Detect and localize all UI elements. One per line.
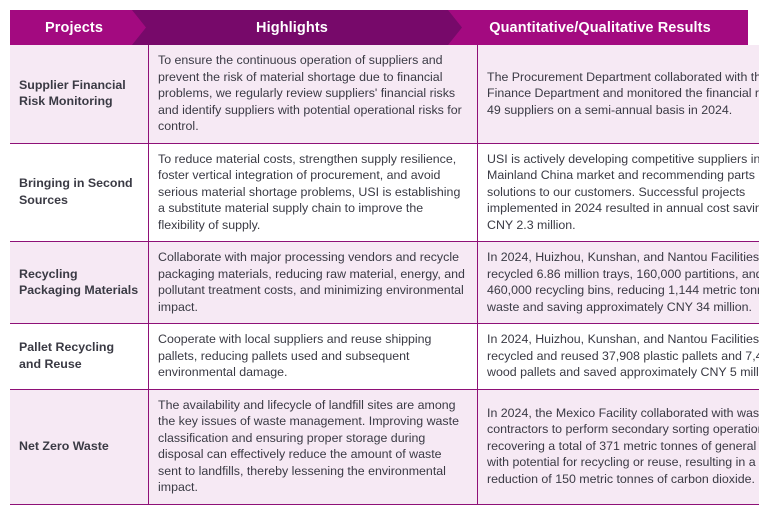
column-header-highlights-label: Highlights [256,20,334,36]
table-body: Supplier Financial Risk Monitoring To en… [10,45,759,505]
cell-highlight: The availability and lifecycle of landfi… [149,389,478,504]
table-row: Net Zero Waste The availability and life… [10,389,759,504]
column-header-projects: Projects [10,10,146,45]
cell-result: In 2024, Huizhou, Kunshan, and Nantou Fa… [478,242,759,324]
table-row: Recycling Packaging Materials Collaborat… [10,242,759,324]
cell-highlight: Cooperate with local suppliers and reuse… [149,324,478,390]
cell-highlight: Collaborate with major processing vendor… [149,242,478,324]
cell-project: Pallet Recycling and Reuse [10,324,149,390]
table-row: Pallet Recycling and Reuse Cooperate wit… [10,324,759,390]
column-header-results-label: Quantitative/Qualitative Results [481,20,711,36]
cell-highlight: To reduce material costs, strengthen sup… [149,143,478,242]
column-header-highlights: Highlights [128,10,462,45]
cell-result: USI is actively developing competitive s… [478,143,759,242]
cell-result: The Procurement Department collaborated … [478,45,759,143]
cell-result: In 2024, Huizhou, Kunshan, and Nantou Fa… [478,324,759,390]
cell-project: Net Zero Waste [10,389,149,504]
cell-highlight: To ensure the continuous operation of su… [149,45,478,143]
cell-result: In 2024, the Mexico Facility collaborate… [478,389,759,504]
table-row: Supplier Financial Risk Monitoring To en… [10,45,759,143]
cell-project: Recycling Packaging Materials [10,242,149,324]
column-header-projects-label: Projects [45,20,111,36]
cell-project: Supplier Financial Risk Monitoring [10,45,149,143]
table-header-banner: Projects Highlights Quantitative/Qualita… [10,10,748,45]
column-header-results: Quantitative/Qualitative Results [444,10,748,45]
table-row: Bringing in Second Sources To reduce mat… [10,143,759,242]
cell-project: Bringing in Second Sources [10,143,149,242]
projects-results-table: Projects Highlights Quantitative/Qualita… [10,10,748,472]
